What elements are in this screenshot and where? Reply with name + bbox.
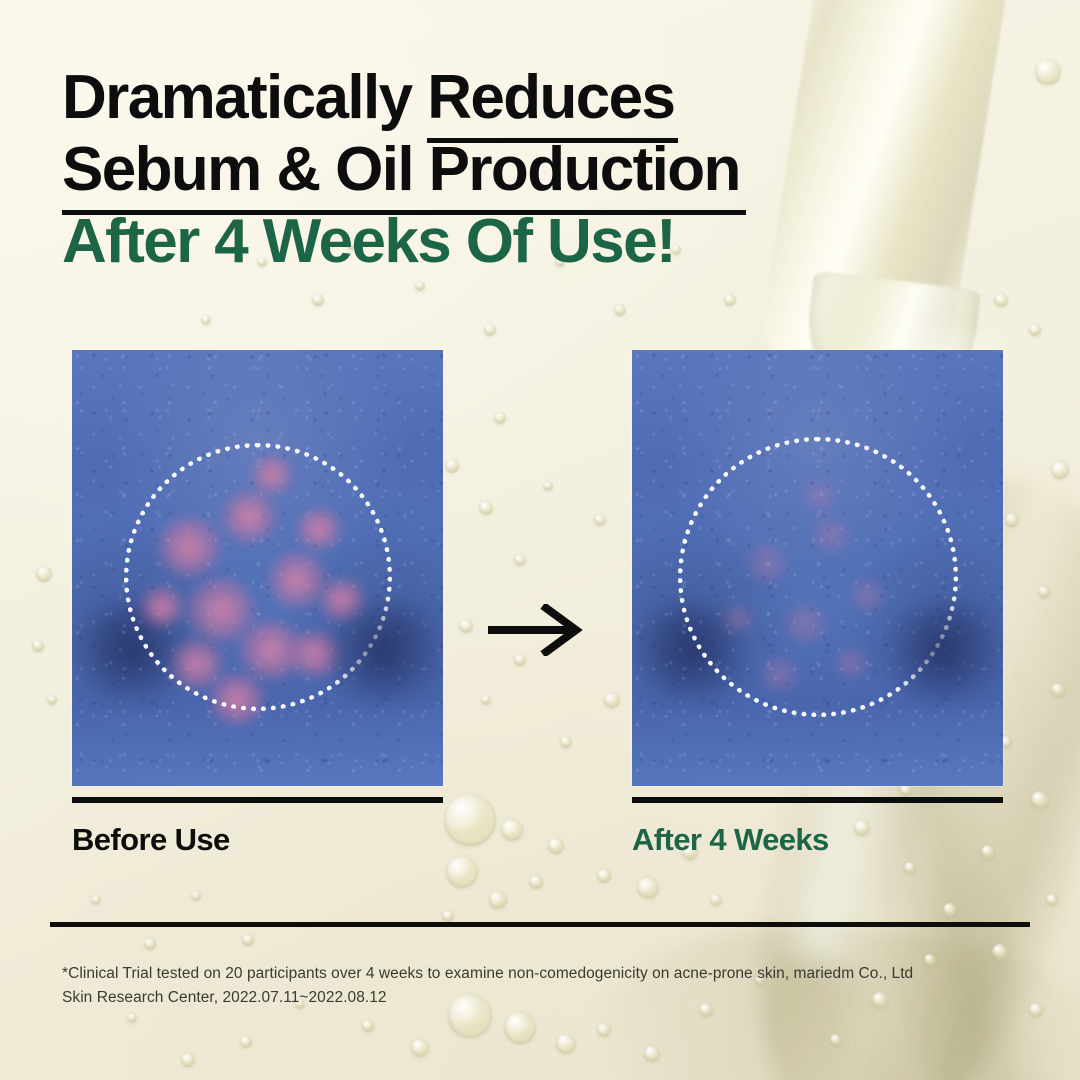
after-caption: After 4 Weeks	[632, 797, 1003, 858]
headline-block: Dramatically Reduces Sebum & Oil Product…	[62, 62, 902, 278]
before-caption: Before Use	[72, 797, 443, 858]
serum-droplet	[444, 794, 496, 846]
measurement-circle-before	[124, 443, 392, 711]
serum-droplet	[943, 903, 957, 917]
serum-droplet	[594, 514, 606, 526]
clinical-trial-footnote: *Clinical Trial tested on 20 participant…	[62, 962, 962, 1010]
serum-droplet	[191, 891, 201, 901]
serum-droplet	[181, 1053, 195, 1067]
serum-droplet	[548, 838, 564, 854]
after-caption-rule	[632, 797, 1003, 803]
serum-droplet	[446, 856, 478, 888]
footnote-line-1: *Clinical Trial tested on 20 participant…	[62, 962, 962, 986]
after-image-panel	[632, 350, 1003, 786]
serum-droplet	[1046, 894, 1058, 906]
serum-droplet	[1038, 586, 1050, 598]
serum-droplet	[514, 554, 526, 566]
serum-droplet	[529, 875, 543, 889]
serum-droplet	[459, 619, 473, 633]
serum-droplet	[1051, 683, 1065, 697]
arrow-right-icon	[486, 604, 590, 656]
serum-droplet	[614, 304, 626, 316]
serum-droplet	[240, 1036, 252, 1048]
serum-droplet	[442, 910, 454, 922]
serum-droplet	[904, 862, 916, 874]
before-caption-rule	[72, 797, 443, 803]
serum-droplet	[994, 293, 1008, 307]
headline-line-1-plain: Dramatically	[62, 63, 427, 132]
serum-droplet	[411, 1039, 429, 1057]
serum-droplet	[127, 1013, 137, 1023]
headline-line-3: After 4 Weeks Of Use!	[62, 206, 902, 278]
serum-droplet	[501, 819, 523, 841]
serum-droplet	[597, 1023, 611, 1037]
serum-droplet	[445, 459, 459, 473]
serum-droplet	[644, 1046, 660, 1062]
serum-droplet	[710, 894, 722, 906]
serum-droplet	[144, 938, 156, 950]
serum-droplet	[604, 692, 620, 708]
serum-droplet	[1029, 1003, 1043, 1017]
headline-line-1: Dramatically Reduces	[62, 62, 902, 134]
serum-droplet	[1031, 791, 1049, 809]
serum-droplet	[362, 1020, 374, 1032]
serum-droplet	[481, 695, 491, 705]
after-caption-label: After 4 Weeks	[632, 822, 1003, 858]
serum-droplet	[543, 481, 553, 491]
serum-droplet	[47, 695, 57, 705]
before-caption-label: Before Use	[72, 822, 443, 858]
headline-line-2: Sebum & Oil Production	[62, 134, 902, 206]
serum-droplet	[32, 640, 44, 652]
serum-droplet	[36, 566, 52, 582]
serum-droplet	[479, 501, 493, 515]
serum-droplet	[1029, 324, 1041, 336]
serum-droplet	[91, 895, 101, 905]
bottom-divider-rule	[50, 922, 1030, 927]
headline-line-1-underlined: Reduces	[427, 62, 674, 134]
serum-droplet	[637, 877, 659, 899]
headline-line-2-underlined: Sebum & Oil Production	[62, 134, 740, 206]
serum-droplet	[312, 294, 324, 306]
uv-skin-photo-before	[72, 350, 443, 786]
serum-droplet	[560, 736, 572, 748]
serum-droplet	[494, 412, 506, 424]
serum-droplet	[201, 315, 211, 325]
serum-droplet	[504, 1012, 536, 1044]
serum-droplet	[556, 1034, 576, 1054]
footnote-line-2: Skin Research Center, 2022.07.11~2022.08…	[62, 986, 962, 1010]
serum-droplet	[992, 944, 1008, 960]
serum-droplet	[597, 869, 611, 883]
serum-droplet	[1035, 59, 1061, 85]
serum-droplet	[830, 1034, 842, 1046]
serum-droplet	[724, 294, 736, 306]
serum-droplet	[242, 934, 254, 946]
serum-droplet	[484, 324, 496, 336]
measurement-circle-after	[678, 437, 958, 717]
uv-skin-photo-after	[632, 350, 1003, 786]
serum-droplet	[489, 891, 507, 909]
serum-droplet	[1005, 513, 1019, 527]
before-image-panel	[72, 350, 443, 786]
serum-droplet	[1051, 461, 1069, 479]
serum-droplet	[415, 281, 425, 291]
